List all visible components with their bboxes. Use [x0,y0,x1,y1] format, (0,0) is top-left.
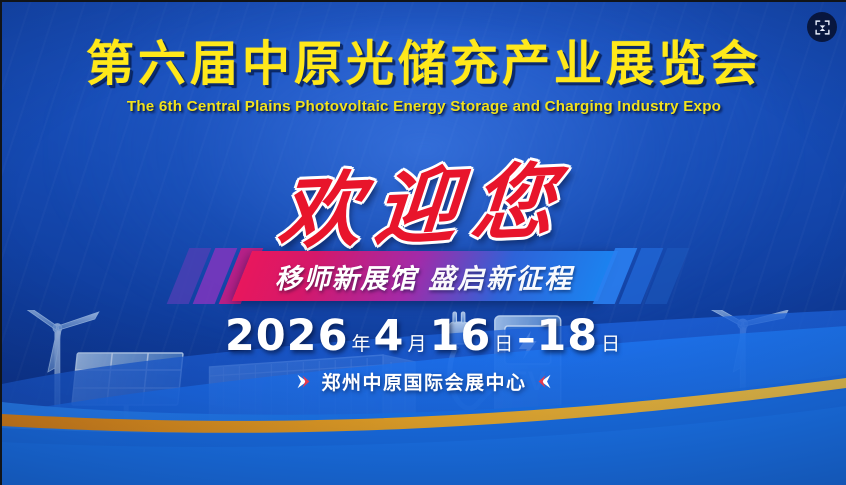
date-year: 2026 [225,311,349,361]
date-day-end: 18 [536,311,598,361]
page-title: 第六届中原光储充产业展览会 [2,40,846,90]
event-venue: 郑州中原国际会展中心 [2,368,846,395]
expo-banner-image: EV V 第六届中原光储充产业展览会 The 6th Central Plain… [0,0,846,485]
ribbon-body [232,251,618,301]
venue-name: 郑州中原国际会展中心 [321,368,526,395]
chevron-left-icon [536,373,553,390]
date-day-start: 16 [429,311,491,361]
date-month: 4 [374,311,405,361]
date-day-end-unit: 日 [598,333,623,355]
date-day-start-unit: 日 [491,333,516,355]
ribbon-chevrons-right [604,248,684,304]
date-year-unit: 年 [349,333,374,355]
slogan-ribbon [2,248,846,304]
date-month-unit: 月 [404,333,429,355]
date-range-dash: – [516,318,536,359]
page-subtitle: The 6th Central Plains Photovoltaic Ener… [2,98,846,115]
chevron-right-icon [295,373,312,390]
fullscreen-icon [814,19,831,36]
fullscreen-button[interactable] [807,12,837,42]
headline-block: 第六届中原光储充产业展览会 The 6th Central Plains Pho… [2,40,846,115]
event-date: 2026年4月16日–18日 [2,311,846,361]
